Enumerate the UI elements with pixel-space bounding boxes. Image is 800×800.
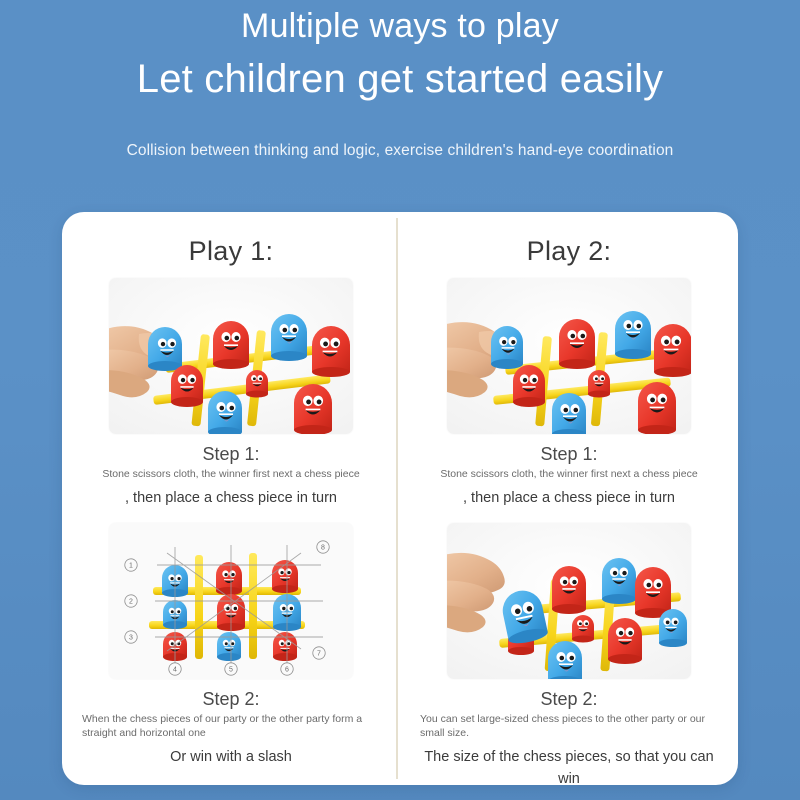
promo-page: Multiple ways to play Let children get s… <box>0 0 800 800</box>
svg-text:7: 7 <box>317 651 321 658</box>
play2-step2-title: Step 2: <box>416 687 722 711</box>
play-1-heading: Play 1: <box>78 234 384 268</box>
svg-text:8: 8 <box>321 545 325 552</box>
play-2-heading: Play 2: <box>416 234 722 268</box>
svg-text:6: 6 <box>285 667 289 674</box>
play2-step1-desc-big: , then place a chess piece in turn <box>416 487 722 509</box>
play1-step1-desc-small: Stone scissors cloth, the winner first n… <box>78 467 384 481</box>
svg-text:4: 4 <box>173 667 177 674</box>
play-column-2: Play 2: <box>400 212 738 785</box>
play1-step1-title: Step 1: <box>78 442 384 466</box>
play1-step2-title: Step 2: <box>78 687 384 711</box>
play1-step2-diagram: 1 2 3 4 5 6 7 8 <box>109 523 353 679</box>
page-title-primary: Multiple ways to play <box>0 4 800 48</box>
play1-step2-desc-small: When the chess pieces of our party or th… <box>78 712 384 740</box>
page-header: Multiple ways to play Let children get s… <box>0 0 800 162</box>
page-subtitle: Collision between thinking and logic, ex… <box>0 140 800 162</box>
play2-step2-desc-big: The size of the chess pieces, so that yo… <box>416 746 722 785</box>
play2-step1-desc-small: Stone scissors cloth, the winner first n… <box>416 467 722 481</box>
play1-step1-photo <box>109 278 353 434</box>
play2-step2-photo <box>447 523 691 679</box>
play2-step1-photo <box>447 278 691 434</box>
instructions-card: Play 1: <box>62 212 738 785</box>
svg-text:1: 1 <box>129 563 133 570</box>
play1-step2-desc-big: Or win with a slash <box>78 746 384 768</box>
page-title-secondary: Let children get started easily <box>0 52 800 106</box>
svg-text:5: 5 <box>229 667 233 674</box>
play2-step2-desc-small: You can set large-sized chess pieces to … <box>416 712 722 740</box>
play2-step1-title: Step 1: <box>416 442 722 466</box>
play1-step1-desc-big: , then place a chess piece in turn <box>78 487 384 509</box>
play-column-1: Play 1: <box>62 212 400 785</box>
svg-text:2: 2 <box>129 599 133 606</box>
svg-text:3: 3 <box>129 635 133 642</box>
